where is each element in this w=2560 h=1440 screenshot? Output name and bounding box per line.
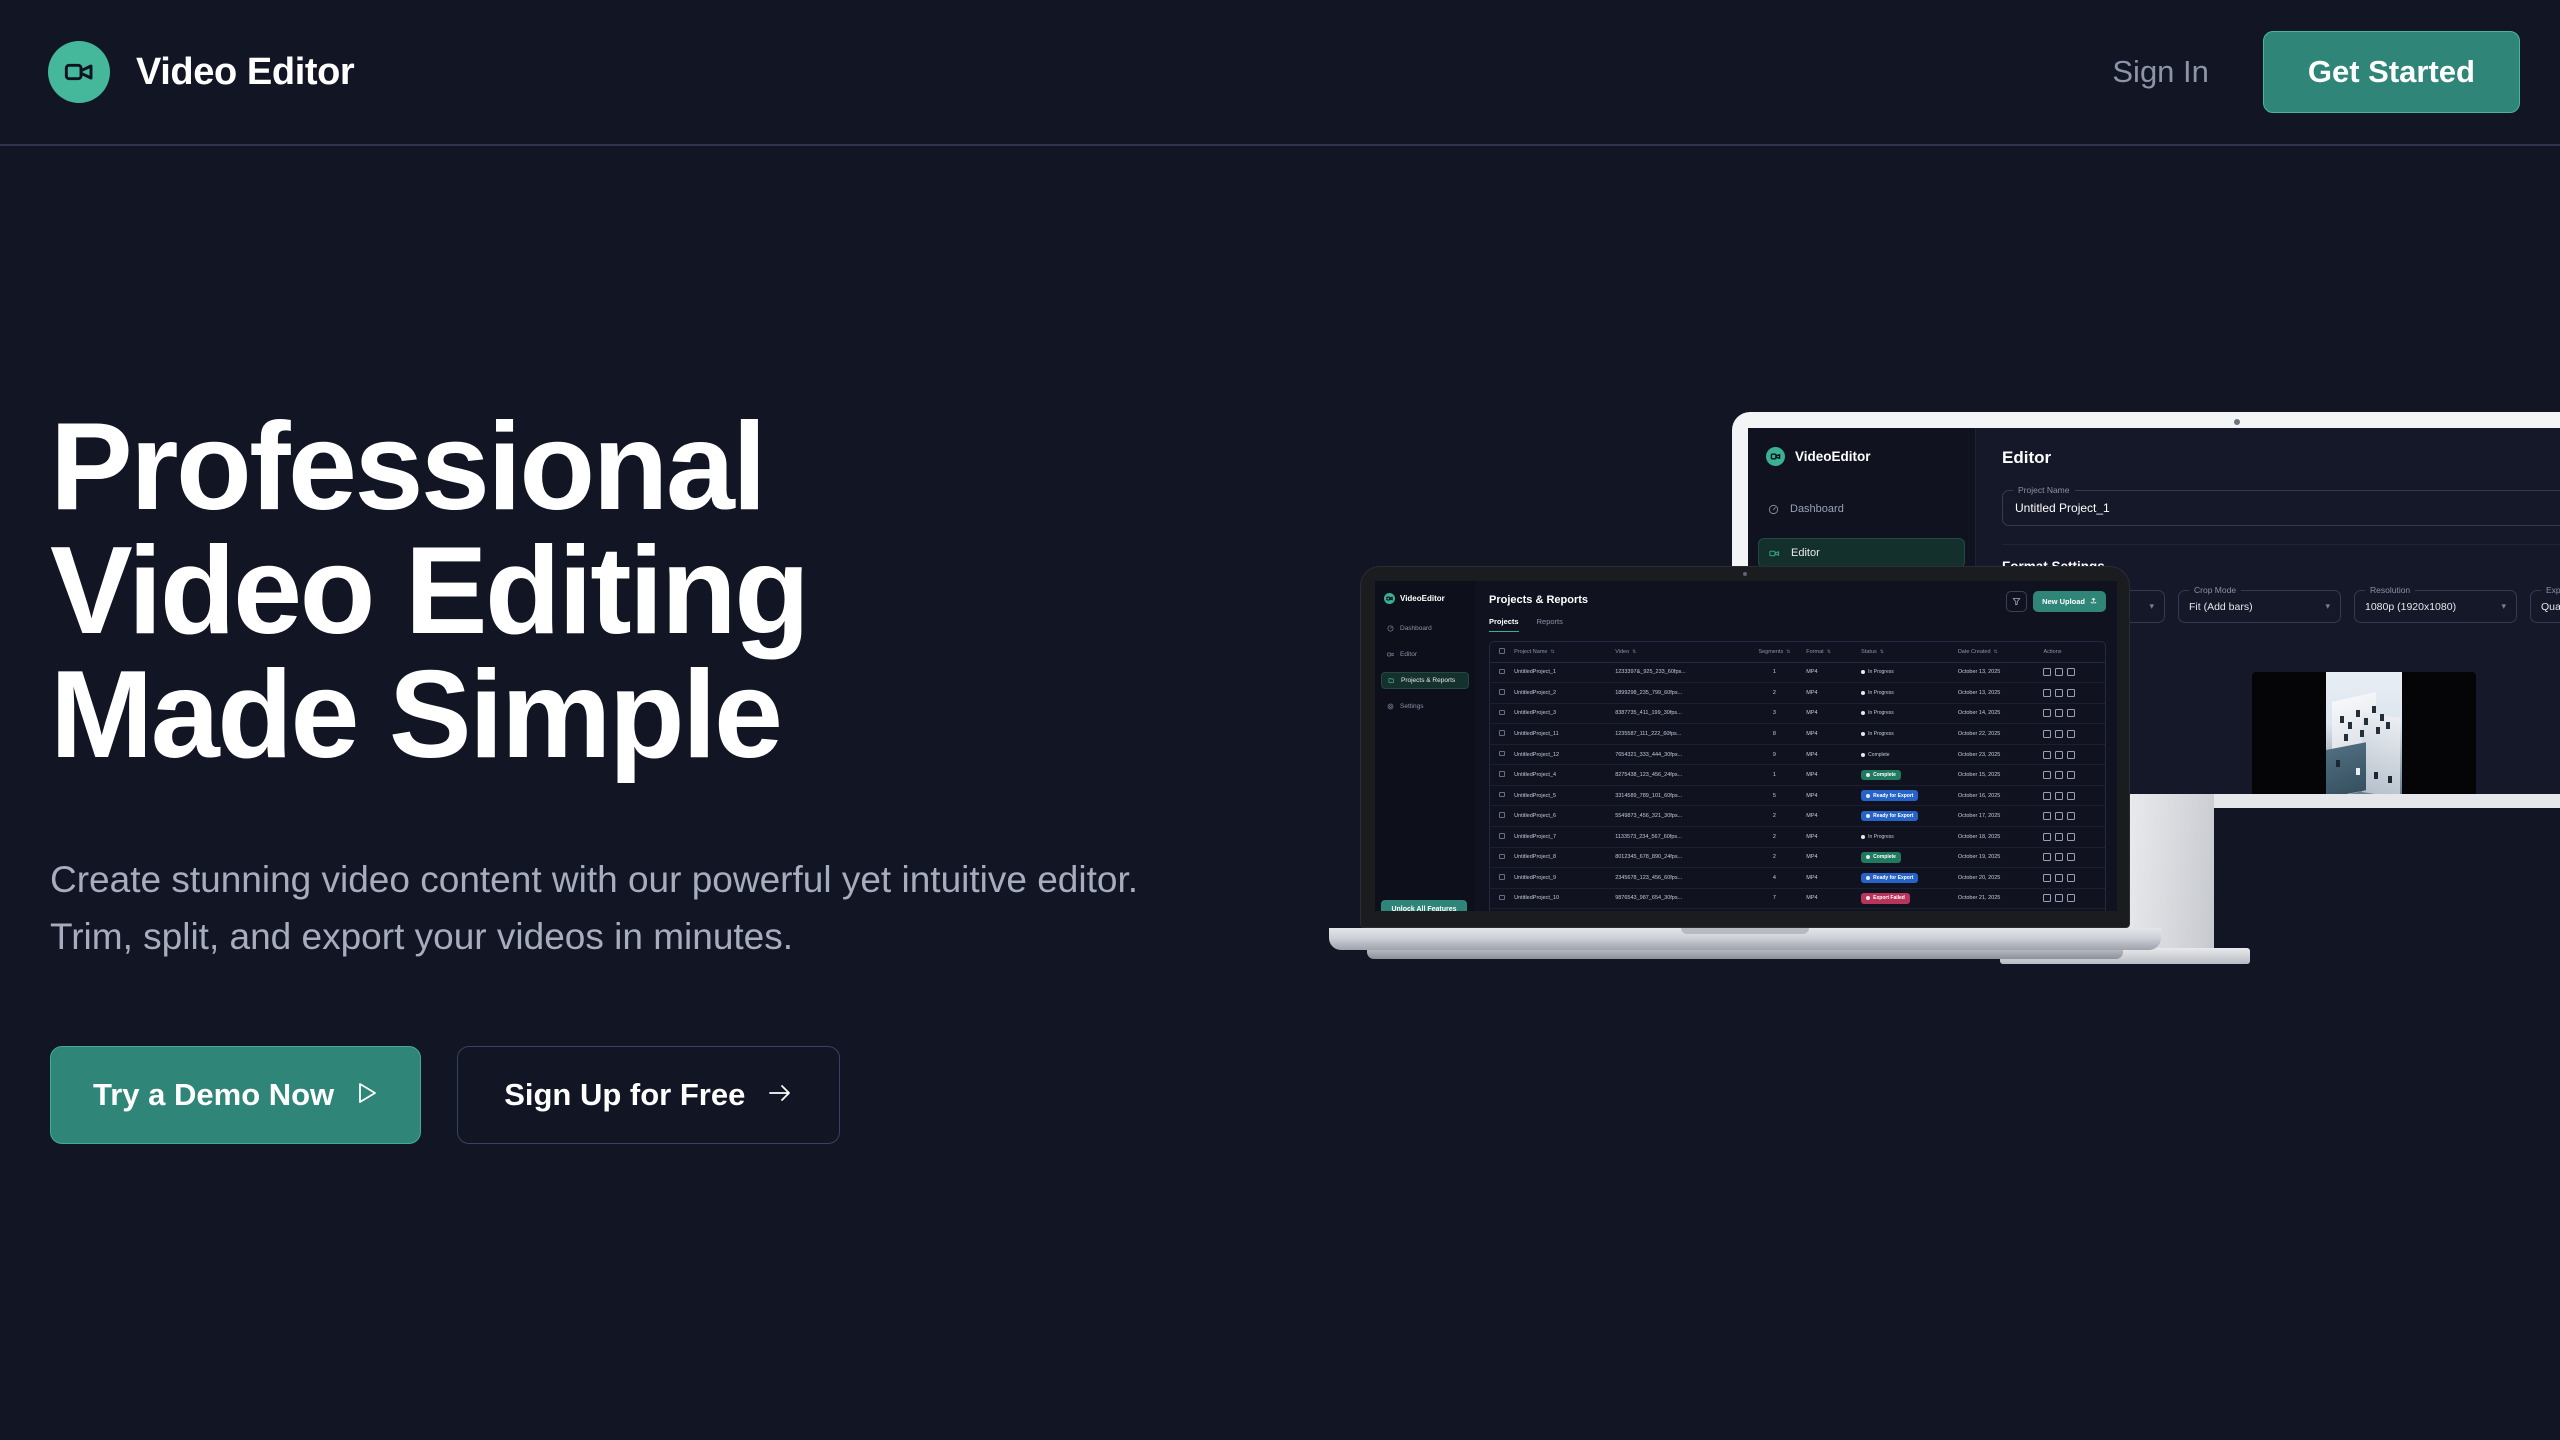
arrow-right-icon [767,1077,793,1113]
cell-project-name: UntitledProject_1 [1514,662,1615,683]
cell-segments: 8 [1743,724,1807,745]
row-actions[interactable] [2043,806,2105,827]
row-checkbox[interactable] [1490,703,1514,724]
row-actions[interactable] [2043,724,2105,745]
download-icon [2055,812,2063,820]
hero-section: Professional Video Editing Made Simple C… [50,405,1150,1144]
status-badge: Ready for Export [1861,785,1958,806]
row-checkbox[interactable] [1490,724,1514,745]
table-row[interactable]: UntitledProject_127654321_333_444_30fps.… [1490,744,2105,765]
cell-date-created: October 17, 2025 [1958,806,2044,827]
column-segments[interactable]: Segments⇅ [1743,642,1807,662]
delete-icon [2067,689,2075,697]
row-actions[interactable] [2043,662,2105,683]
column-project-name[interactable]: Project Name⇅ [1514,642,1615,662]
edit-icon [2043,812,2051,820]
status-badge: Complete [1861,744,1958,765]
status-badge: In Progress [1861,827,1958,848]
video-camera-icon [1769,548,1780,559]
cell-project-name: UntitledProject_12 [1514,744,1615,765]
cell-format: MP4 [1806,827,1861,848]
column-video[interactable]: Video⇅ [1615,642,1742,662]
gauge-icon [1768,504,1779,515]
cell-date-created: October 22, 2025 [1958,724,2044,745]
row-checkbox[interactable] [1490,744,1514,765]
sidebar-label: Editor [1791,547,1820,559]
row-actions[interactable] [2043,683,2105,704]
sidebar-label: Editor [1400,651,1417,658]
cell-date-created: October 19, 2025 [1958,847,2044,868]
projects-sidebar-brand: VideoEditor [1375,593,1475,604]
delete-icon [2067,812,2075,820]
projects-table: Project Name⇅ Video⇅ Segments⇅ Format⇅ S… [1489,641,2106,911]
cell-format: MP4 [1806,888,1861,909]
column-format[interactable]: Format⇅ [1806,642,1861,662]
status-badge: Ready for Export [1861,868,1958,889]
cell-video: 1133573_234_567_60fps... [1615,827,1742,848]
status-badge: Export Failed [1861,888,1958,909]
download-icon [2055,751,2063,759]
edit-icon [2043,689,2051,697]
cell-format: MP4 [1806,744,1861,765]
status-badge: Ready for Export [1861,806,1958,827]
cell-project-name: UntitledProject_4 [1514,765,1615,786]
cell-segments: 2 [1743,827,1807,848]
download-icon [2055,894,2063,902]
projects-main: Projects & Reports New Upload [1475,581,2117,911]
cell-date-created: October 20, 2025 [1958,868,2044,889]
cell-format: MP4 [1806,806,1861,827]
cell-video: 1235587_111_222_60fps... [1615,724,1742,745]
delete-icon [2067,751,2075,759]
status-badge: In Progress [1861,662,1958,683]
video-camera-icon [1766,447,1785,466]
table-row[interactable]: UntitledProject_92345678_123_456_60fps..… [1490,868,2105,889]
download-icon [2055,833,2063,841]
row-actions[interactable] [2043,868,2105,889]
sidebar-label: Dashboard [1790,503,1844,515]
editor-page-title: Editor [2002,448,2560,468]
row-checkbox[interactable] [1490,662,1514,683]
projects-tabs: Projects Reports [1489,617,2117,632]
projects-brand-name: VideoEditor [1400,594,1445,603]
table-row[interactable]: UntitledProject_53314589_789_101_60fps..… [1490,785,2105,806]
cell-video: 1357924_555_666_60fps... [1615,909,1742,911]
edit-icon [2043,751,2051,759]
chevron-down-icon: ▾ [2501,601,2506,612]
cell-segments: 5 [1743,785,1807,806]
nav-actions: Sign In Get Started [2112,31,2520,113]
cell-video: 8012345_678_890_24fps... [1615,847,1742,868]
cell-project-name: UntitledProject_9 [1514,868,1615,889]
sidebar-item-editor[interactable]: Editor [1758,538,1965,568]
download-icon [2055,668,2063,676]
row-actions[interactable] [2043,785,2105,806]
row-checkbox[interactable] [1490,847,1514,868]
download-icon [2055,709,2063,717]
gear-icon [1387,703,1394,710]
resolution-label: Resolution [2365,585,2415,595]
delete-icon [2067,668,2075,676]
hero-title-line-1: Professional [50,405,1150,529]
cell-segments: 10 [1743,909,1807,911]
cell-format: MP4 [1806,683,1861,704]
row-checkbox[interactable] [1490,683,1514,704]
project-name-value: Untitled Project_1 [2015,501,2110,515]
row-actions[interactable] [2043,703,2105,724]
crop-mode-label: Crop Mode [2189,585,2241,595]
cell-project-name: UntitledProject_10 [1514,888,1615,909]
table-row[interactable]: UntitledProject_109876543_987_654_30fps.… [1490,888,2105,909]
cell-project-name: UntitledProject_7 [1514,827,1615,848]
cell-video: 2345678_123_456_60fps... [1615,868,1742,889]
column-date-created[interactable]: Date Created⇅ [1958,642,2044,662]
edit-icon [2043,668,2051,676]
sidebar-item-dashboard[interactable]: Dashboard [1381,620,1469,637]
row-actions[interactable] [2043,909,2105,911]
crop-mode-select[interactable]: Crop Mode Fit (Add bars) ▾ [2178,590,2341,623]
brand-logo[interactable]: Video Editor [48,41,354,103]
cell-video: 7654321_333_444_30fps... [1615,744,1742,765]
cell-video: 8275438_123_456_24fps... [1615,765,1742,786]
status-badge: Complete [1861,847,1958,868]
cell-video: 1899298_235_799_60fps... [1615,683,1742,704]
laptop-lid: VideoEditor Dashboard Editor [1360,566,2130,928]
status-badge: In Progress [1861,724,1958,745]
export-speed-select[interactable]: Export Speed Quality (Recommended) ▾ [2530,590,2560,623]
try-demo-label: Try a Demo Now [93,1077,334,1113]
folder-icon [1388,677,1395,684]
cell-segments: 1 [1743,662,1807,683]
new-upload-button[interactable]: New Upload [2033,591,2106,612]
status-badge: In Progress [1861,683,1958,704]
laptop-base [1329,928,2161,950]
table-body: UntitledProject_11233397&_925_233_60fps.… [1490,662,2105,911]
sign-in-button[interactable]: Sign In [2112,54,2209,90]
row-actions[interactable] [2043,744,2105,765]
delete-icon [2067,771,2075,779]
delete-icon [2067,874,2075,882]
chevron-down-icon: ▾ [2325,601,2330,612]
status-badge: In Progress [1861,703,1958,724]
cell-date-created: October 15, 2025 [1958,765,2044,786]
cell-video: 8387735_411_199_30fps... [1615,703,1742,724]
cell-format: MP4 [1806,847,1861,868]
column-status[interactable]: Status⇅ [1861,642,1958,662]
tab-reports[interactable]: Reports [1537,617,1563,632]
sidebar-item-projects-reports[interactable]: Projects & Reports [1381,672,1469,689]
cell-video: 9876543_987_654_30fps... [1615,888,1742,909]
cell-format: MP4 [1806,868,1861,889]
download-icon [2055,853,2063,861]
row-actions[interactable] [2043,827,2105,848]
video-player-preview[interactable] [2252,672,2476,794]
edit-icon [2043,833,2051,841]
cell-date-created: October 18, 2025 [1958,827,2044,848]
sidebar-label: Settings [1400,703,1424,710]
cell-format: MP4 [1806,662,1861,683]
device-mockups: VideoEditor Dashboard Edi [1360,400,2560,1360]
video-camera-icon [1384,593,1395,604]
row-checkbox[interactable] [1490,868,1514,889]
row-actions[interactable] [2043,888,2105,909]
row-checkbox[interactable] [1490,785,1514,806]
video-thumbnail [2326,672,2402,794]
sidebar-label: Projects & Reports [1401,677,1455,684]
sidebar-label: Dashboard [1400,625,1432,632]
hero-title-line-3: Made Simple [50,653,1150,777]
landing-page: Video Editor Sign In Get Started Profess… [0,0,2560,1440]
cell-date-created: October 13, 2025 [1958,683,2044,704]
cell-format: MP4 [1806,703,1861,724]
laptop-screen: VideoEditor Dashboard Editor [1375,581,2117,911]
download-icon [2055,730,2063,738]
gauge-icon [1387,625,1394,632]
table-row[interactable]: UntitledProject_11233397&_925_233_60fps.… [1490,662,2105,683]
projects-actions: New Upload [2006,591,2106,612]
delete-icon [2067,792,2075,800]
resolution-select[interactable]: Resolution 1080p (1920x1080) ▾ [2354,590,2517,623]
cell-segments: 1 [1743,765,1807,786]
edit-icon [2043,874,2051,882]
edit-icon [2043,730,2051,738]
edit-icon [2043,894,2051,902]
cell-segments: 2 [1743,847,1807,868]
laptop-foot [1367,950,2123,959]
export-speed-label: Export Speed [2541,585,2560,595]
top-navigation-bar: Video Editor Sign In Get Started [0,0,2560,146]
download-icon [2055,771,2063,779]
sidebar-item-dashboard[interactable]: Dashboard [1758,494,1965,524]
cell-format: MP4 [1806,909,1861,911]
cell-video: 5549873_456_321_30fps... [1615,806,1742,827]
laptop-mockup: VideoEditor Dashboard Editor [1360,566,2192,959]
cell-date-created: October 14, 2025 [1958,703,2044,724]
edit-icon [2043,771,2051,779]
delete-icon [2067,709,2075,717]
cell-date-created: October 13, 2025 [1958,662,2044,683]
sign-up-free-button[interactable]: Sign Up for Free [457,1046,840,1144]
editor-sidebar-brand: VideoEditor [1748,447,1975,466]
export-speed-value: Quality (Recommended) [2541,601,2560,613]
edit-icon [2043,792,2051,800]
sidebar-item-settings[interactable]: Settings [1381,698,1469,715]
table-row[interactable]: UntitledProject_111235587_111_222_60fps.… [1490,724,2105,745]
sign-up-label: Sign Up for Free [504,1077,745,1113]
cell-project-name: UntitledProject_5 [1514,785,1615,806]
cell-date-created: October 23, 2025 [1958,744,2044,765]
crop-mode-value: Fit (Add bars) [2189,601,2253,613]
delete-icon [2067,730,2075,738]
edit-icon [2043,853,2051,861]
table-row[interactable]: UntitledProject_48275438_123_456_24fps..… [1490,765,2105,786]
row-checkbox[interactable] [1490,765,1514,786]
row-checkbox[interactable] [1490,806,1514,827]
status-badge: Complete [1861,765,1958,786]
play-triangle-icon [356,1077,378,1113]
status-badge: Ready for Export [1861,909,1958,911]
row-actions[interactable] [2043,847,2105,868]
hero-title-line-2: Video Editing [50,529,1150,653]
table-row[interactable]: UntitledProject_71133573_234_567_60fps..… [1490,827,2105,848]
cell-format: MP4 [1806,724,1861,745]
download-icon [2055,689,2063,697]
cell-segments: 9 [1743,744,1807,765]
page-title: Professional Video Editing Made Simple [50,405,1150,777]
column-actions: Actions [2043,642,2105,662]
table-row[interactable]: UntitledProject_38387735_411_199_30fps..… [1490,703,2105,724]
laptop-notch [1695,567,1795,581]
new-upload-label: New Upload [2042,597,2085,606]
table-header-row: Project Name⇅ Video⇅ Segments⇅ Format⇅ S… [1490,642,2105,662]
table-row[interactable]: UntitledProject_65549873_456_321_30fps..… [1490,806,2105,827]
cell-segments: 7 [1743,888,1807,909]
projects-sidebar: VideoEditor Dashboard Editor [1375,581,1475,911]
cell-video: 1233397&_925_233_60fps... [1615,662,1742,683]
try-demo-button[interactable]: Try a Demo Now [50,1046,421,1144]
video-camera-icon [48,41,110,103]
download-icon [2055,874,2063,882]
row-checkbox[interactable] [1490,888,1514,909]
table-row[interactable]: UntitledProject_88012345_678_890_24fps..… [1490,847,2105,868]
editor-divider [2002,544,2560,545]
unlock-all-features-button[interactable]: Unlock All Features [1381,900,1467,911]
delete-icon [2067,894,2075,902]
cell-segments: 2 [1743,683,1807,704]
cell-format: MP4 [1806,765,1861,786]
get-started-button[interactable]: Get Started [2263,31,2520,113]
cell-project-name: UntitledProject_3 [1514,703,1615,724]
cell-project-name: UntitledProject_6 [1514,806,1615,827]
tab-projects[interactable]: Projects [1489,617,1519,632]
brand-name: Video Editor [136,51,354,94]
cell-video: 3314589_789_101_60fps... [1615,785,1742,806]
video-camera-icon [1387,651,1394,658]
delete-icon [2067,833,2075,841]
table-row[interactable]: UntitledProject_21899298_235_799_60fps..… [1490,683,2105,704]
row-checkbox[interactable] [1490,827,1514,848]
monitor-camera-dot [2234,419,2240,425]
cell-date-created: October 16, 2025 [1958,785,2044,806]
project-name-label: Project Name [2013,485,2075,495]
cell-project-name: UntitledProject_8 [1514,847,1615,868]
resolution-value: 1080p (1920x1080) [2365,601,2456,613]
select-all-header[interactable] [1490,642,1514,662]
cell-date-created: October 21, 2025 [1958,888,2044,909]
funnel-icon[interactable] [2006,591,2027,612]
cell-project-name: UntitledProject_13 [1514,909,1615,911]
delete-icon [2067,853,2075,861]
editor-brand-name: VideoEditor [1795,449,1871,464]
project-name-field[interactable]: Project Name Untitled Project_1 [2002,490,2560,526]
row-actions[interactable] [2043,765,2105,786]
cell-segments: 3 [1743,703,1807,724]
cell-segments: 4 [1743,868,1807,889]
download-icon [2055,792,2063,800]
cell-format: MP4 [1806,785,1861,806]
cell-project-name: UntitledProject_11 [1514,724,1615,745]
hero-cta-row: Try a Demo Now Sign Up for Free [50,1046,1150,1144]
row-checkbox[interactable] [1490,909,1514,911]
upload-icon [2090,597,2097,606]
cell-segments: 2 [1743,806,1807,827]
edit-icon [2043,709,2051,717]
hero-subtitle: Create stunning video content with our p… [50,851,1140,966]
cell-project-name: UntitledProject_2 [1514,683,1615,704]
cell-date-created: October 24, 2025 [1958,909,2044,911]
sidebar-item-editor[interactable]: Editor [1381,646,1469,663]
table-row[interactable]: UntitledProject_131357924_555_666_60fps.… [1490,909,2105,911]
